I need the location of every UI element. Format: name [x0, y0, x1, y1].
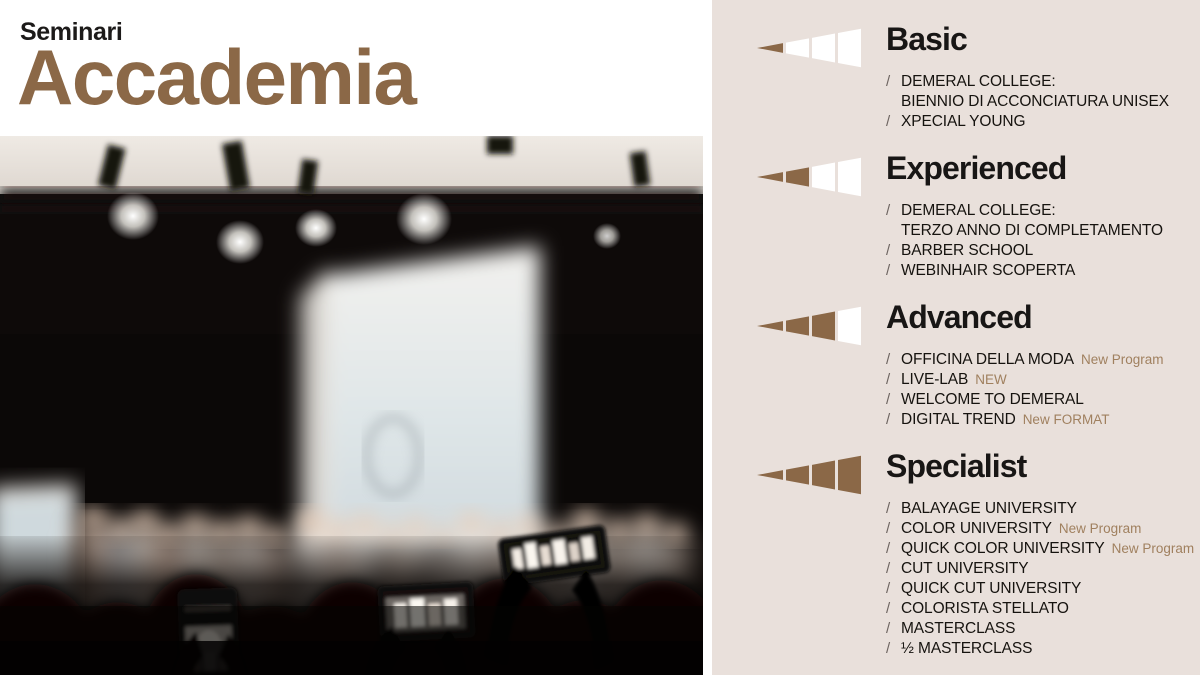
level-segment-4 — [838, 456, 861, 495]
level-arrow-3-of-4-icon — [757, 306, 867, 346]
level-segment-1 — [757, 321, 783, 331]
course-name: MASTERCLASS — [901, 619, 1015, 639]
slash-bullet-icon: / — [886, 261, 901, 281]
left-panel: Seminari Accademia — [0, 0, 703, 675]
course-item[interactable]: /WELCOME TO DEMERAL — [886, 390, 1163, 410]
level-segment-1 — [757, 172, 783, 182]
course-name: WELCOME TO DEMERAL — [901, 390, 1084, 410]
slash-bullet-icon: / — [886, 370, 901, 390]
level-segment-3 — [812, 312, 835, 341]
page-title: Accademia — [17, 38, 415, 116]
level-segment-3 — [812, 34, 835, 63]
course-name: BARBER SCHOOL — [901, 241, 1033, 261]
course-item[interactable]: /QUICK CUT UNIVERSITY — [886, 579, 1194, 599]
course-badge: New Program — [1052, 519, 1142, 539]
level-segment-1 — [757, 43, 783, 53]
course-name: DIGITAL TREND — [901, 410, 1016, 430]
course-item[interactable]: /DEMERAL COLLEGE: — [886, 201, 1163, 221]
level-heading: Basic — [886, 22, 967, 57]
course-item[interactable]: /CUT UNIVERSITY — [886, 559, 1194, 579]
slash-bullet-icon: / — [886, 410, 901, 430]
level-course-list: /DEMERAL COLLEGE:BIENNIO DI ACCONCIATURA… — [886, 72, 1169, 132]
course-badge: New Program — [1074, 350, 1164, 370]
course-name: QUICK CUT UNIVERSITY — [901, 579, 1081, 599]
level-segment-2 — [786, 167, 809, 186]
course-item[interactable]: /XPECIAL YOUNG — [886, 112, 1169, 132]
slash-bullet-icon: / — [886, 639, 901, 659]
course-name-continuation: TERZO ANNO DI COMPLETAMENTO — [886, 221, 1163, 241]
level-segment-4 — [838, 158, 861, 197]
event-photo-illustration — [0, 136, 703, 675]
course-name: COLOR UNIVERSITY — [901, 519, 1052, 539]
slash-bullet-icon: / — [886, 559, 901, 579]
course-name: WEBINHAIR SCOPERTA — [901, 261, 1075, 281]
course-item[interactable]: /OFFICINA DELLA MODANew Program — [886, 350, 1163, 370]
course-item[interactable]: /BARBER SCHOOL — [886, 241, 1163, 261]
course-name: COLORISTA STELLATO — [901, 599, 1069, 619]
course-item[interactable]: /QUICK COLOR UNIVERSITYNew Program — [886, 539, 1194, 559]
course-item[interactable]: /WEBINHAIR SCOPERTA — [886, 261, 1163, 281]
slash-bullet-icon: / — [886, 499, 901, 519]
panel-divider — [703, 0, 712, 675]
course-name: LIVE-LAB — [901, 370, 968, 390]
slash-bullet-icon: / — [886, 579, 901, 599]
level-course-list: /DEMERAL COLLEGE:TERZO ANNO DI COMPLETAM… — [886, 201, 1163, 281]
slash-bullet-icon: / — [886, 350, 901, 370]
course-badge: NEW — [968, 370, 1007, 390]
course-name: DEMERAL COLLEGE: — [901, 72, 1056, 92]
course-name: DEMERAL COLLEGE: — [901, 201, 1056, 221]
level-segment-4 — [838, 307, 861, 346]
slide-root: Seminari Accademia Basic/DEMERAL COLLEGE… — [0, 0, 1200, 675]
level-heading: Specialist — [886, 449, 1026, 484]
event-photo — [0, 136, 703, 675]
slash-bullet-icon: / — [886, 619, 901, 639]
slash-bullet-icon: / — [886, 112, 901, 132]
course-name-continuation: BIENNIO DI ACCONCIATURA UNISEX — [886, 92, 1169, 112]
level-segment-2 — [786, 316, 809, 335]
slash-bullet-icon: / — [886, 539, 901, 559]
course-item[interactable]: /COLORISTA STELLATO — [886, 599, 1194, 619]
level-segment-1 — [757, 470, 783, 480]
slash-bullet-icon: / — [886, 72, 901, 92]
course-item[interactable]: /DIGITAL TRENDNew FORMAT — [886, 410, 1163, 430]
level-segment-4 — [838, 29, 861, 68]
level-segment-3 — [812, 461, 835, 490]
course-name: XPECIAL YOUNG — [901, 112, 1025, 132]
course-item[interactable]: /DEMERAL COLLEGE: — [886, 72, 1169, 92]
level-course-list: /BALAYAGE UNIVERSITY/COLOR UNIVERSITYNew… — [886, 499, 1194, 659]
slash-bullet-icon: / — [886, 390, 901, 410]
title-block: Seminari Accademia — [0, 0, 703, 136]
level-segment-3 — [812, 163, 835, 192]
level-segment-2 — [786, 465, 809, 484]
level-heading: Advanced — [886, 300, 1032, 335]
level-arrow-2-of-4-icon — [757, 157, 867, 197]
course-name: OFFICINA DELLA MODA — [901, 350, 1074, 370]
level-arrow-4-of-4-icon — [757, 455, 867, 495]
level-segment-2 — [786, 38, 809, 57]
course-name: CUT UNIVERSITY — [901, 559, 1029, 579]
course-item[interactable]: /BALAYAGE UNIVERSITY — [886, 499, 1194, 519]
course-item[interactable]: /MASTERCLASS — [886, 619, 1194, 639]
course-name: BALAYAGE UNIVERSITY — [901, 499, 1077, 519]
level-arrow-1-of-4-icon — [757, 28, 867, 68]
course-badge: New FORMAT — [1016, 410, 1110, 430]
slash-bullet-icon: / — [886, 201, 901, 221]
course-item[interactable]: /½ MASTERCLASS — [886, 639, 1194, 659]
slash-bullet-icon: / — [886, 599, 901, 619]
level-course-list: /OFFICINA DELLA MODANew Program/LIVE-LAB… — [886, 350, 1163, 430]
course-item[interactable]: /COLOR UNIVERSITYNew Program — [886, 519, 1194, 539]
course-item[interactable]: /LIVE-LABNEW — [886, 370, 1163, 390]
levels-panel: Basic/DEMERAL COLLEGE:BIENNIO DI ACCONCI… — [712, 0, 1200, 675]
level-heading: Experienced — [886, 151, 1066, 186]
slash-bullet-icon: / — [886, 241, 901, 261]
course-badge: New Program — [1105, 539, 1195, 559]
slash-bullet-icon: / — [886, 519, 901, 539]
course-name: ½ MASTERCLASS — [901, 639, 1032, 659]
course-name: QUICK COLOR UNIVERSITY — [901, 539, 1105, 559]
